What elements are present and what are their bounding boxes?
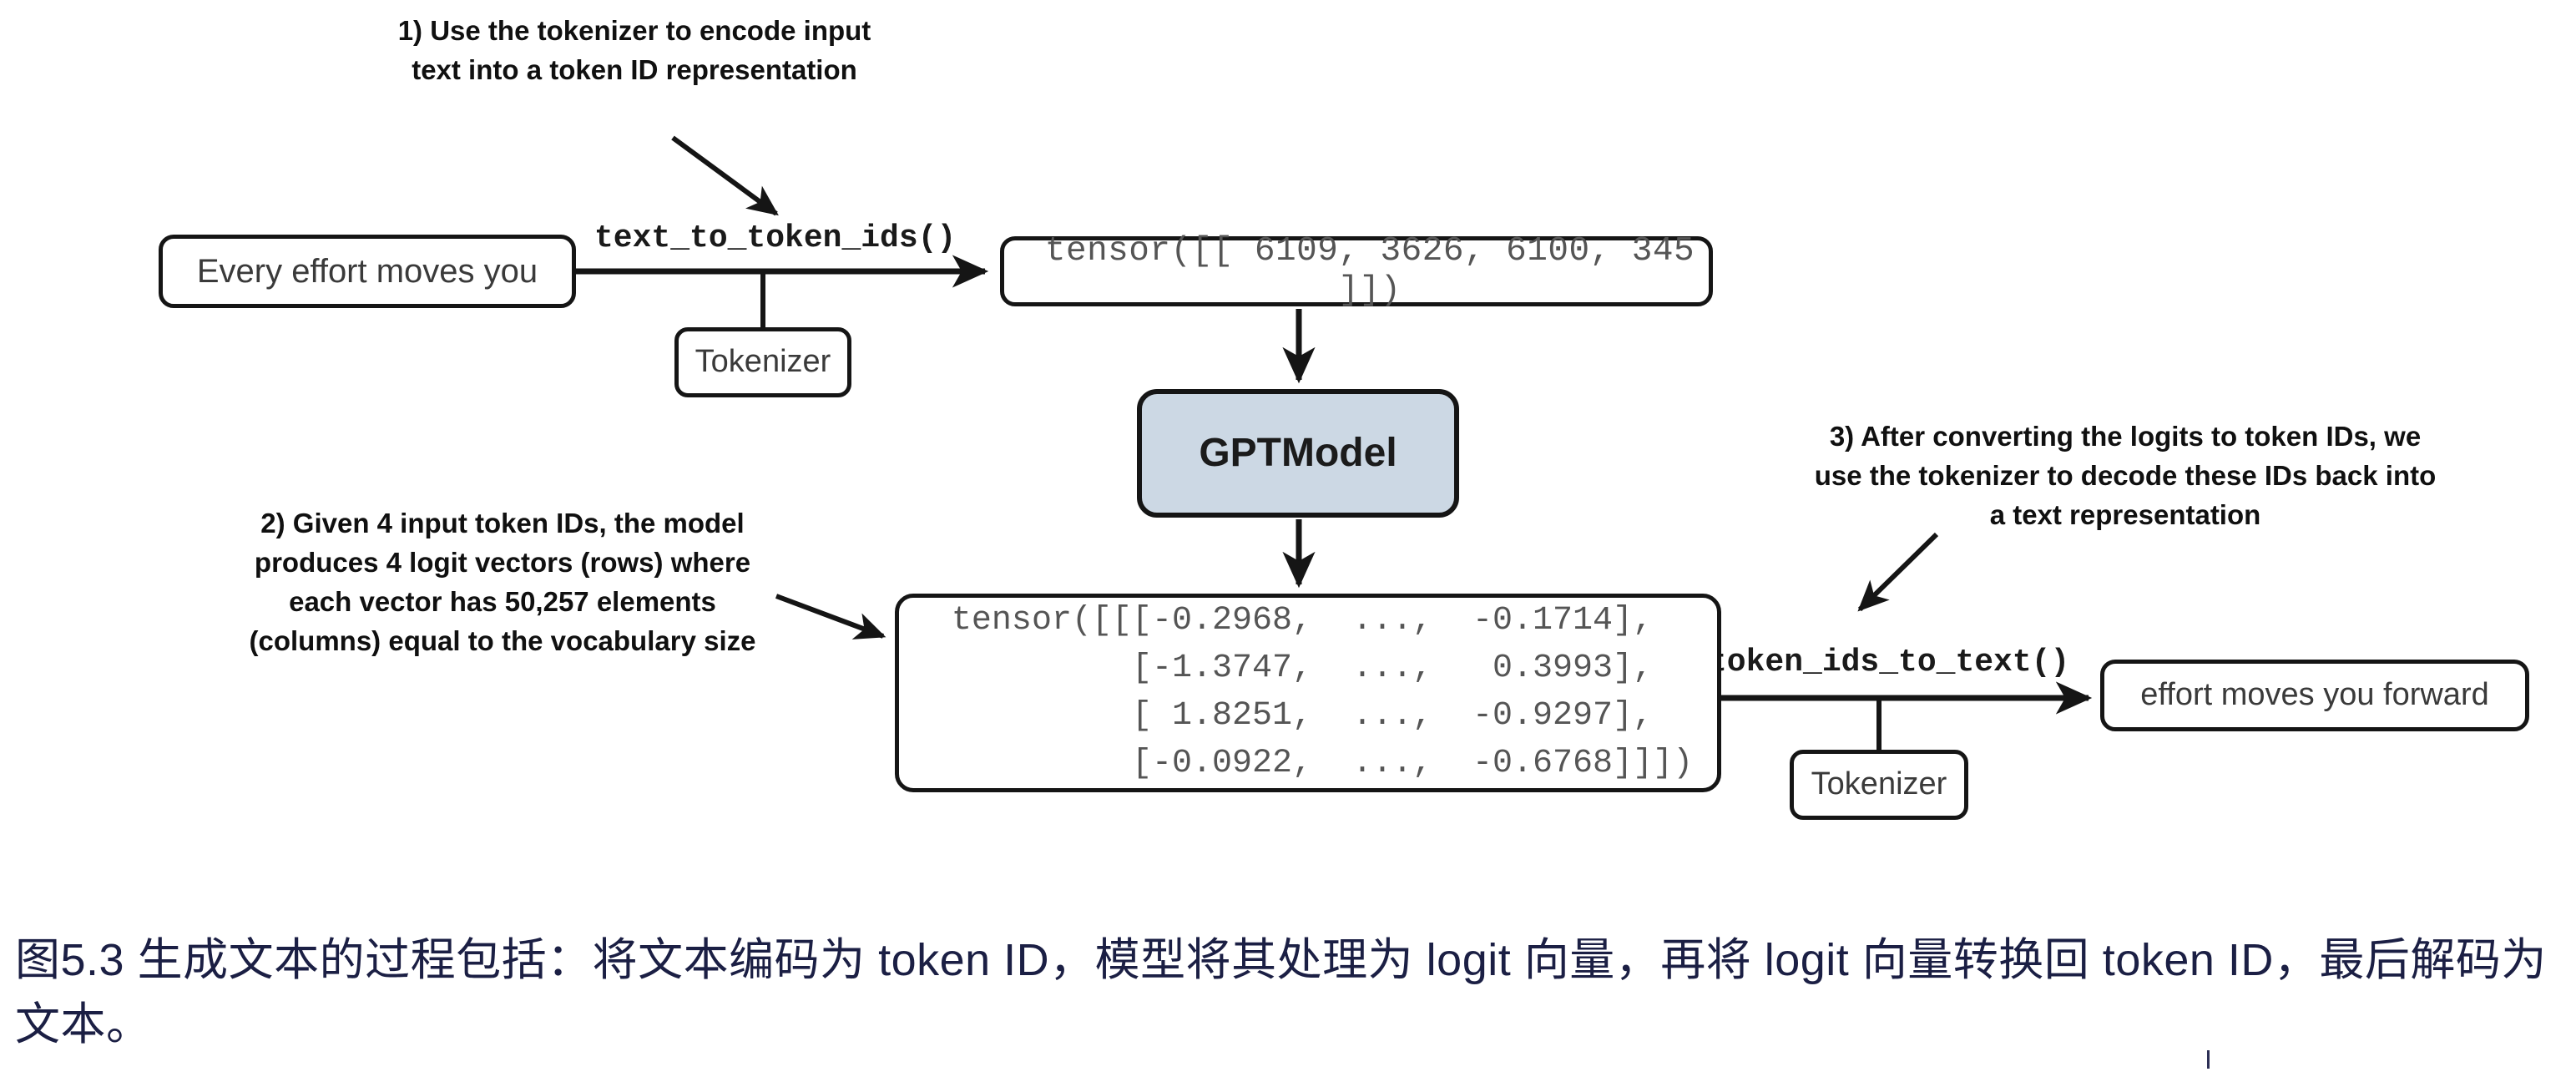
text-caret [2207, 1050, 2210, 1069]
annotation-step-2: 2) Given 4 input token IDs, the model pr… [210, 504, 795, 660]
node-logits-tensor: tensor([[[-0.2968, ..., -0.1714], [-1.37… [895, 594, 1721, 792]
arrow-anno3-to-function [1860, 534, 1937, 609]
figure-diagram: 1) Use the tokenizer to encode input tex… [0, 0, 2576, 1087]
annotation-step-1: 1) Use the tokenizer to encode input tex… [326, 12, 943, 90]
logits-tensor-text: tensor([[[-0.2968, ..., -0.1714], [-1.37… [952, 598, 1693, 787]
node-input-text: Every effort moves you [159, 235, 576, 308]
edge-label-text-to-token-ids: text_to_token_ids() [594, 220, 956, 256]
annotation-step-3: 3) After converting the logits to token … [1758, 417, 2493, 535]
node-tokenizer-encode: Tokenizer [674, 327, 851, 397]
node-tokenizer-decode: Tokenizer [1790, 750, 1968, 820]
node-gpt-model: GPTModel [1137, 389, 1459, 518]
arrow-anno1-to-function [673, 138, 776, 214]
figure-caption: 图5.3 生成文本的过程包括：将文本编码为 token ID，模型将其处理为 l… [15, 928, 2561, 1056]
edge-label-token-ids-to-text: token_ids_to_text() [1708, 645, 2069, 680]
node-token-ids-tensor: tensor([[ 6109, 3626, 6100, 345 ]]) [1000, 236, 1713, 306]
node-output-text: effort moves you forward [2100, 660, 2529, 731]
